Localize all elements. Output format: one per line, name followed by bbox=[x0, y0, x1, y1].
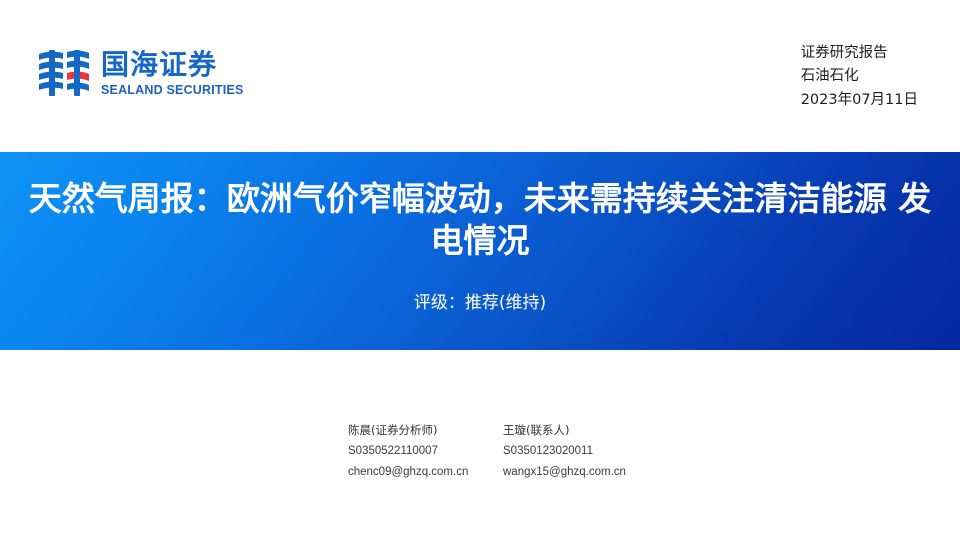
author-email[interactable]: wangx15@ghzq.com.cn bbox=[503, 462, 658, 483]
company-logo: 国海证券 SEALAND SECURITIES bbox=[36, 48, 244, 100]
author-entry: 陈晨(证券分析师) S0350522110007 chenc09@ghzq.co… bbox=[348, 420, 503, 483]
report-date-label: 2023年07月11日 bbox=[801, 89, 918, 112]
report-title: 天然气周报：欧洲气价窄幅波动，未来需持续关注清洁能源 发电情况 bbox=[15, 178, 945, 262]
author-name: 王璇(联系人) bbox=[503, 420, 658, 441]
sealand-logo-mark-icon bbox=[36, 48, 92, 100]
industry-label: 石油石化 bbox=[801, 65, 918, 88]
report-cover-page: 国海证券 SEALAND SECURITIES 证券研究报告 石油石化 2023… bbox=[0, 0, 960, 540]
author-license-number: S0350522110007 bbox=[348, 441, 503, 462]
authors-block: 陈晨(证券分析师) S0350522110007 chenc09@ghzq.co… bbox=[348, 420, 658, 483]
rating-label: 评级：推荐(维持) bbox=[414, 288, 546, 313]
report-title-line-1: 天然气周报：欧洲气价窄幅波动，未来需持续关注清洁能源 bbox=[29, 179, 887, 218]
author-email[interactable]: chenc09@ghzq.com.cn bbox=[348, 462, 503, 483]
author-name: 陈晨(证券分析师) bbox=[348, 420, 503, 441]
header-meta: 证券研究报告 石油石化 2023年07月11日 bbox=[801, 42, 918, 112]
logo-company-name-en: SEALAND SECURITIES bbox=[101, 84, 244, 97]
logo-text: 国海证券 SEALAND SECURITIES bbox=[101, 51, 244, 97]
report-type-label: 证券研究报告 bbox=[801, 42, 918, 65]
title-banner: 天然气周报：欧洲气价窄幅波动，未来需持续关注清洁能源 发电情况 评级：推荐(维持… bbox=[0, 152, 960, 350]
logo-company-name-cn: 国海证券 bbox=[101, 51, 244, 79]
page-header: 国海证券 SEALAND SECURITIES 证券研究报告 石油石化 2023… bbox=[0, 0, 960, 152]
author-entry: 王璇(联系人) S0350123020011 wangx15@ghzq.com.… bbox=[503, 420, 658, 483]
author-license-number: S0350123020011 bbox=[503, 441, 658, 462]
